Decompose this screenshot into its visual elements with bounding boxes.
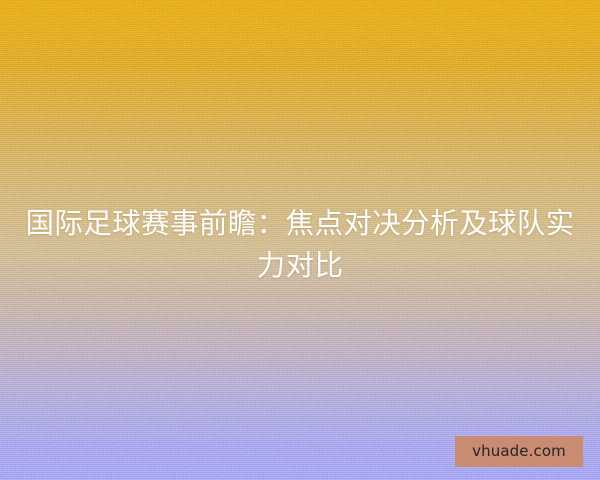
watermark-text: vhuade.com: [472, 444, 566, 459]
watermark-badge: vhuade.com: [455, 436, 583, 467]
banner-image: 国际足球赛事前瞻：焦点对决分析及球队实力对比 vhuade.com: [0, 0, 600, 480]
page-title: 国际足球赛事前瞻：焦点对决分析及球队实力对比: [0, 203, 600, 287]
